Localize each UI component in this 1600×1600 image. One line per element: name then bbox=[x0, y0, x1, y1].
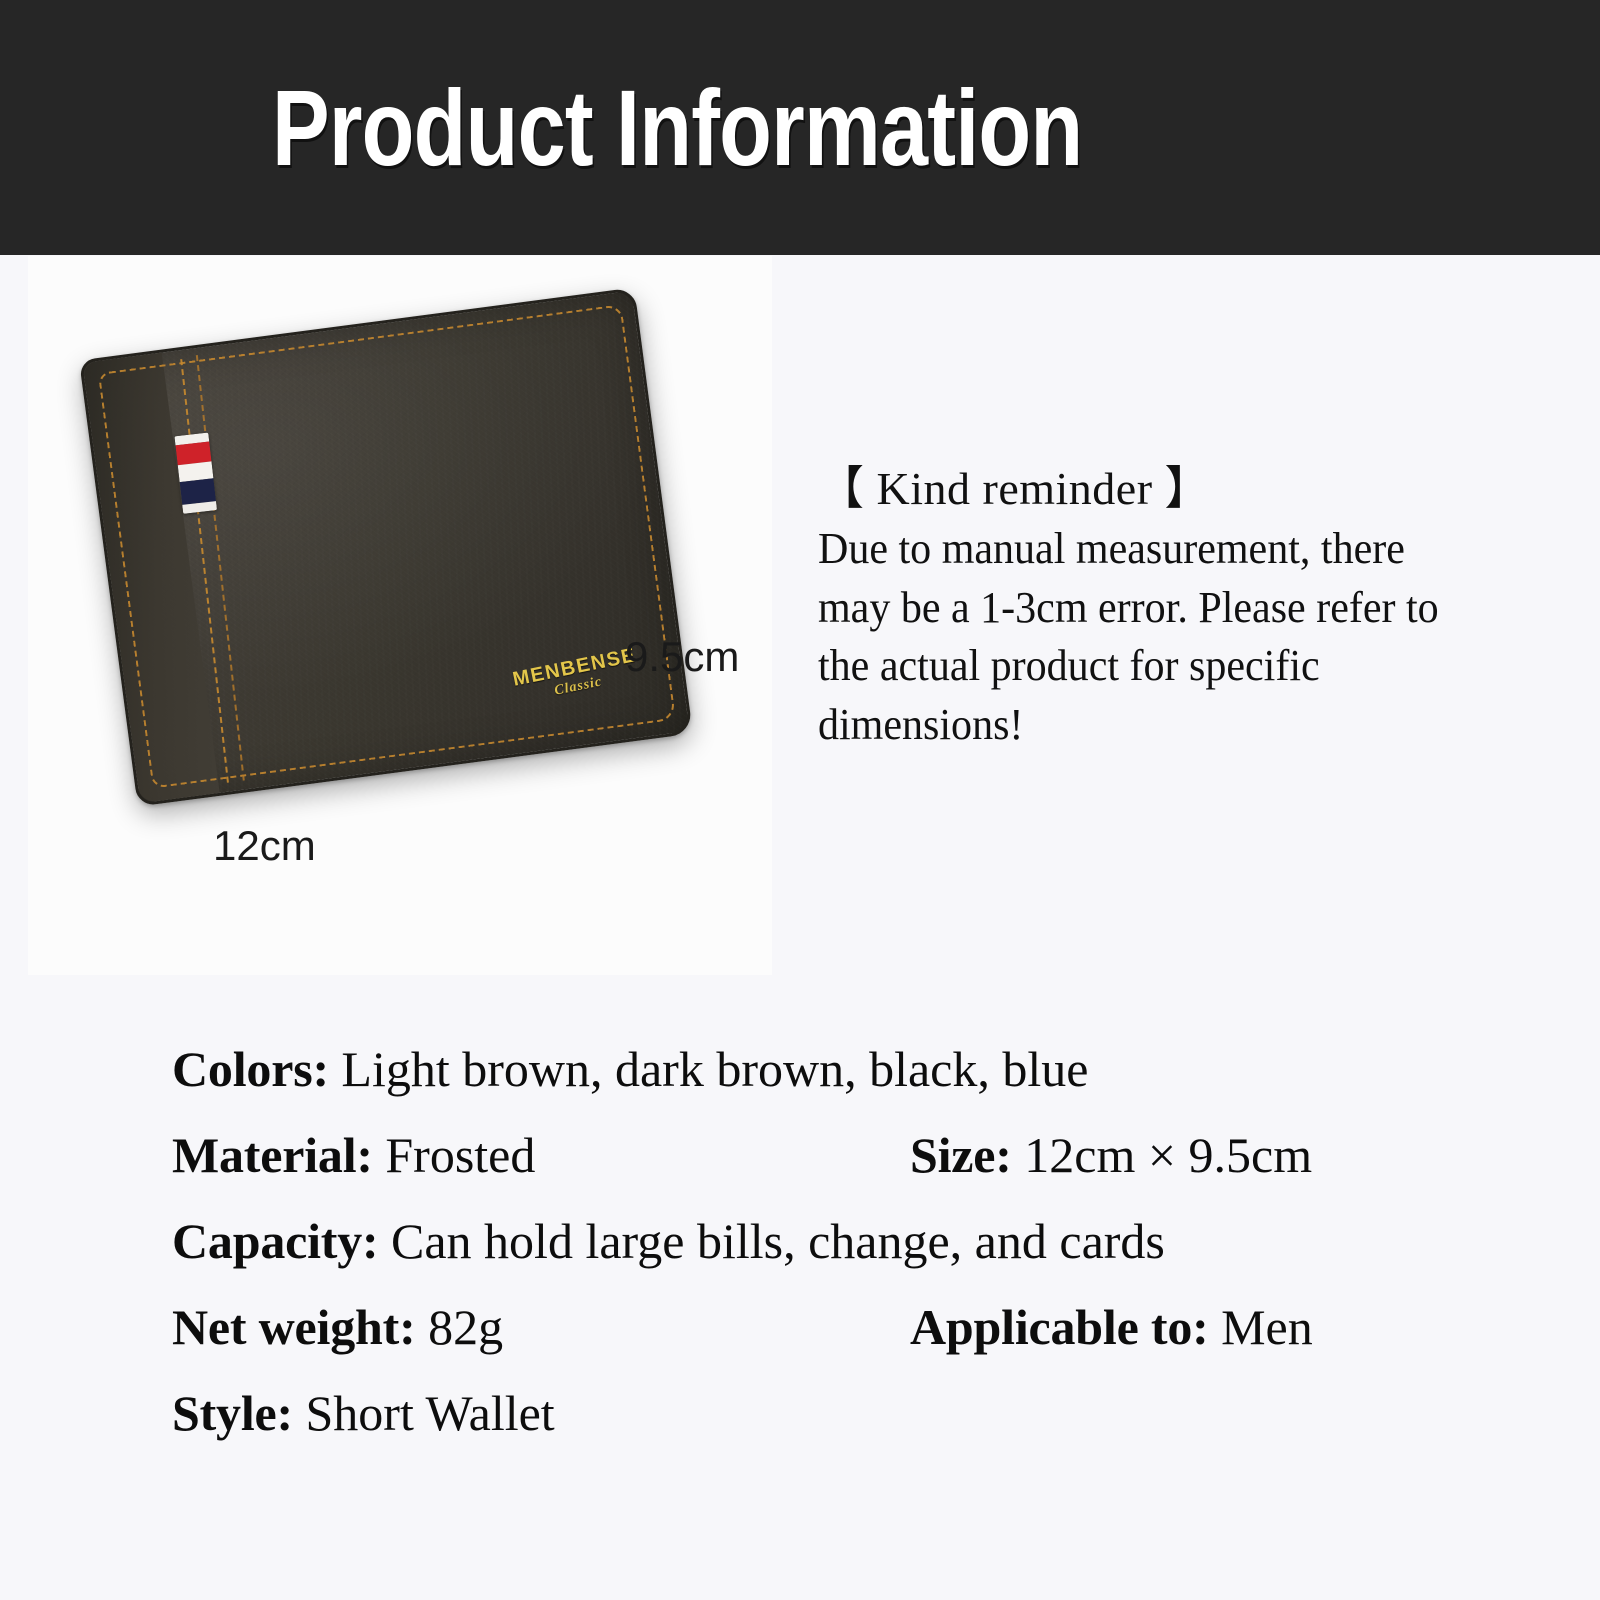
spec-row-material-size: Material: Frosted Size: 12cm × 9.5cm bbox=[172, 1112, 1472, 1198]
spec-key-size: Size: bbox=[910, 1127, 1012, 1183]
spec-item-capacity: Capacity: Can hold large bills, change, … bbox=[172, 1198, 1165, 1284]
spec-item-material: Material: Frosted bbox=[172, 1112, 535, 1198]
spec-row-colors: Colors: Light brown, dark brown, black, … bbox=[172, 1026, 1472, 1112]
spec-key-colors: Colors: bbox=[172, 1041, 329, 1097]
spec-value-style: Short Wallet bbox=[293, 1385, 555, 1441]
reminder-line: Due to manual measurement, there bbox=[818, 520, 1525, 579]
kind-reminder-block: 【 Kind reminder 】 Due to manual measurem… bbox=[818, 462, 1558, 754]
spec-row-style: Style: Short Wallet bbox=[172, 1370, 1472, 1456]
spec-key-capacity: Capacity: bbox=[172, 1213, 379, 1269]
wallet-illustration: MENBENSE Classic bbox=[79, 287, 693, 806]
spec-value-size: 12cm × 9.5cm bbox=[1012, 1127, 1312, 1183]
product-image-panel: MENBENSE Classic 9.5cm 12cm bbox=[28, 256, 772, 975]
spec-item-size: Size: 12cm × 9.5cm bbox=[910, 1112, 1312, 1198]
spec-key-net-weight: Net weight: bbox=[172, 1299, 416, 1355]
spec-key-material: Material: bbox=[172, 1127, 373, 1183]
spec-value-colors: Light brown, dark brown, black, blue bbox=[329, 1041, 1089, 1097]
kind-reminder-body: Due to manual measurement, there may be … bbox=[818, 520, 1525, 754]
specification-list: Colors: Light brown, dark brown, black, … bbox=[172, 1026, 1472, 1456]
spec-item-colors: Colors: Light brown, dark brown, black, … bbox=[172, 1026, 1088, 1112]
spec-value-material: Frosted bbox=[373, 1127, 536, 1183]
page-title: Product Information bbox=[272, 74, 1082, 182]
spec-item-style: Style: Short Wallet bbox=[172, 1370, 555, 1456]
reminder-line: dimensions! bbox=[818, 696, 1525, 755]
spec-row-capacity: Capacity: Can hold large bills, change, … bbox=[172, 1198, 1472, 1284]
spec-key-applicable-to: Applicable to: bbox=[910, 1299, 1209, 1355]
spec-item-applicable-to: Applicable to: Men bbox=[910, 1284, 1313, 1370]
dimension-label-height: 9.5cm bbox=[625, 633, 739, 681]
reminder-line: the actual product for specific bbox=[818, 637, 1525, 696]
spec-row-weight-applicable: Net weight: 82g Applicable to: Men bbox=[172, 1284, 1472, 1370]
spec-item-net-weight: Net weight: 82g bbox=[172, 1284, 503, 1370]
spec-key-style: Style: bbox=[172, 1385, 293, 1441]
spec-value-capacity: Can hold large bills, change, and cards bbox=[379, 1213, 1165, 1269]
kind-reminder-title: 【 Kind reminder 】 bbox=[818, 462, 1558, 516]
dimension-label-width: 12cm bbox=[213, 822, 316, 870]
spec-value-applicable-to: Men bbox=[1209, 1299, 1313, 1355]
reminder-line: may be a 1-3cm error. Please refer to bbox=[818, 579, 1525, 638]
product-photo: MENBENSE Classic 9.5cm 12cm bbox=[28, 256, 772, 975]
spec-value-net-weight: 82g bbox=[416, 1299, 504, 1355]
page-header: Product Information bbox=[0, 0, 1600, 255]
